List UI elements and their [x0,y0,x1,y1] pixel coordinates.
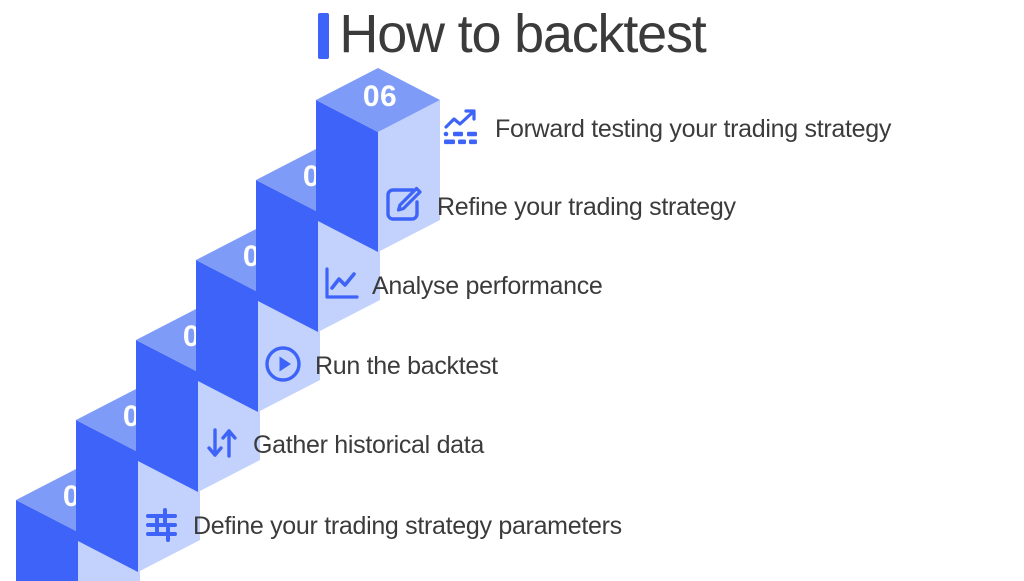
step-label-05: Refine your trading strategy [437,195,736,220]
edit-square-icon [383,184,425,231]
step-label-04: Analyse performance [372,274,603,299]
infographic-canvas: How to backtest 010203040506 [0,0,1024,581]
step-row-06: Forward testing your trading strategy [441,106,891,153]
step-row-01: Define your trading strategy parameters [141,504,622,549]
step-row-05: Refine your trading strategy [383,184,736,231]
step-row-04: Analyse performance [320,264,603,309]
line-chart-icon [320,264,360,309]
step-number-06: 06 [363,80,397,113]
step-label-02: Gather historical data [253,433,484,458]
step-label-03: Run the backtest [315,354,498,379]
up-down-arrows-icon [203,424,241,467]
step-label-06: Forward testing your trading strategy [495,117,891,142]
sliders-icon [141,504,181,549]
play-circle-icon [263,344,303,389]
step-label-01: Define your trading strategy parameters [193,514,622,539]
growth-chart-icon [441,106,483,153]
step-row-02: Gather historical data [203,424,484,467]
step-row-03: Run the backtest [263,344,498,389]
